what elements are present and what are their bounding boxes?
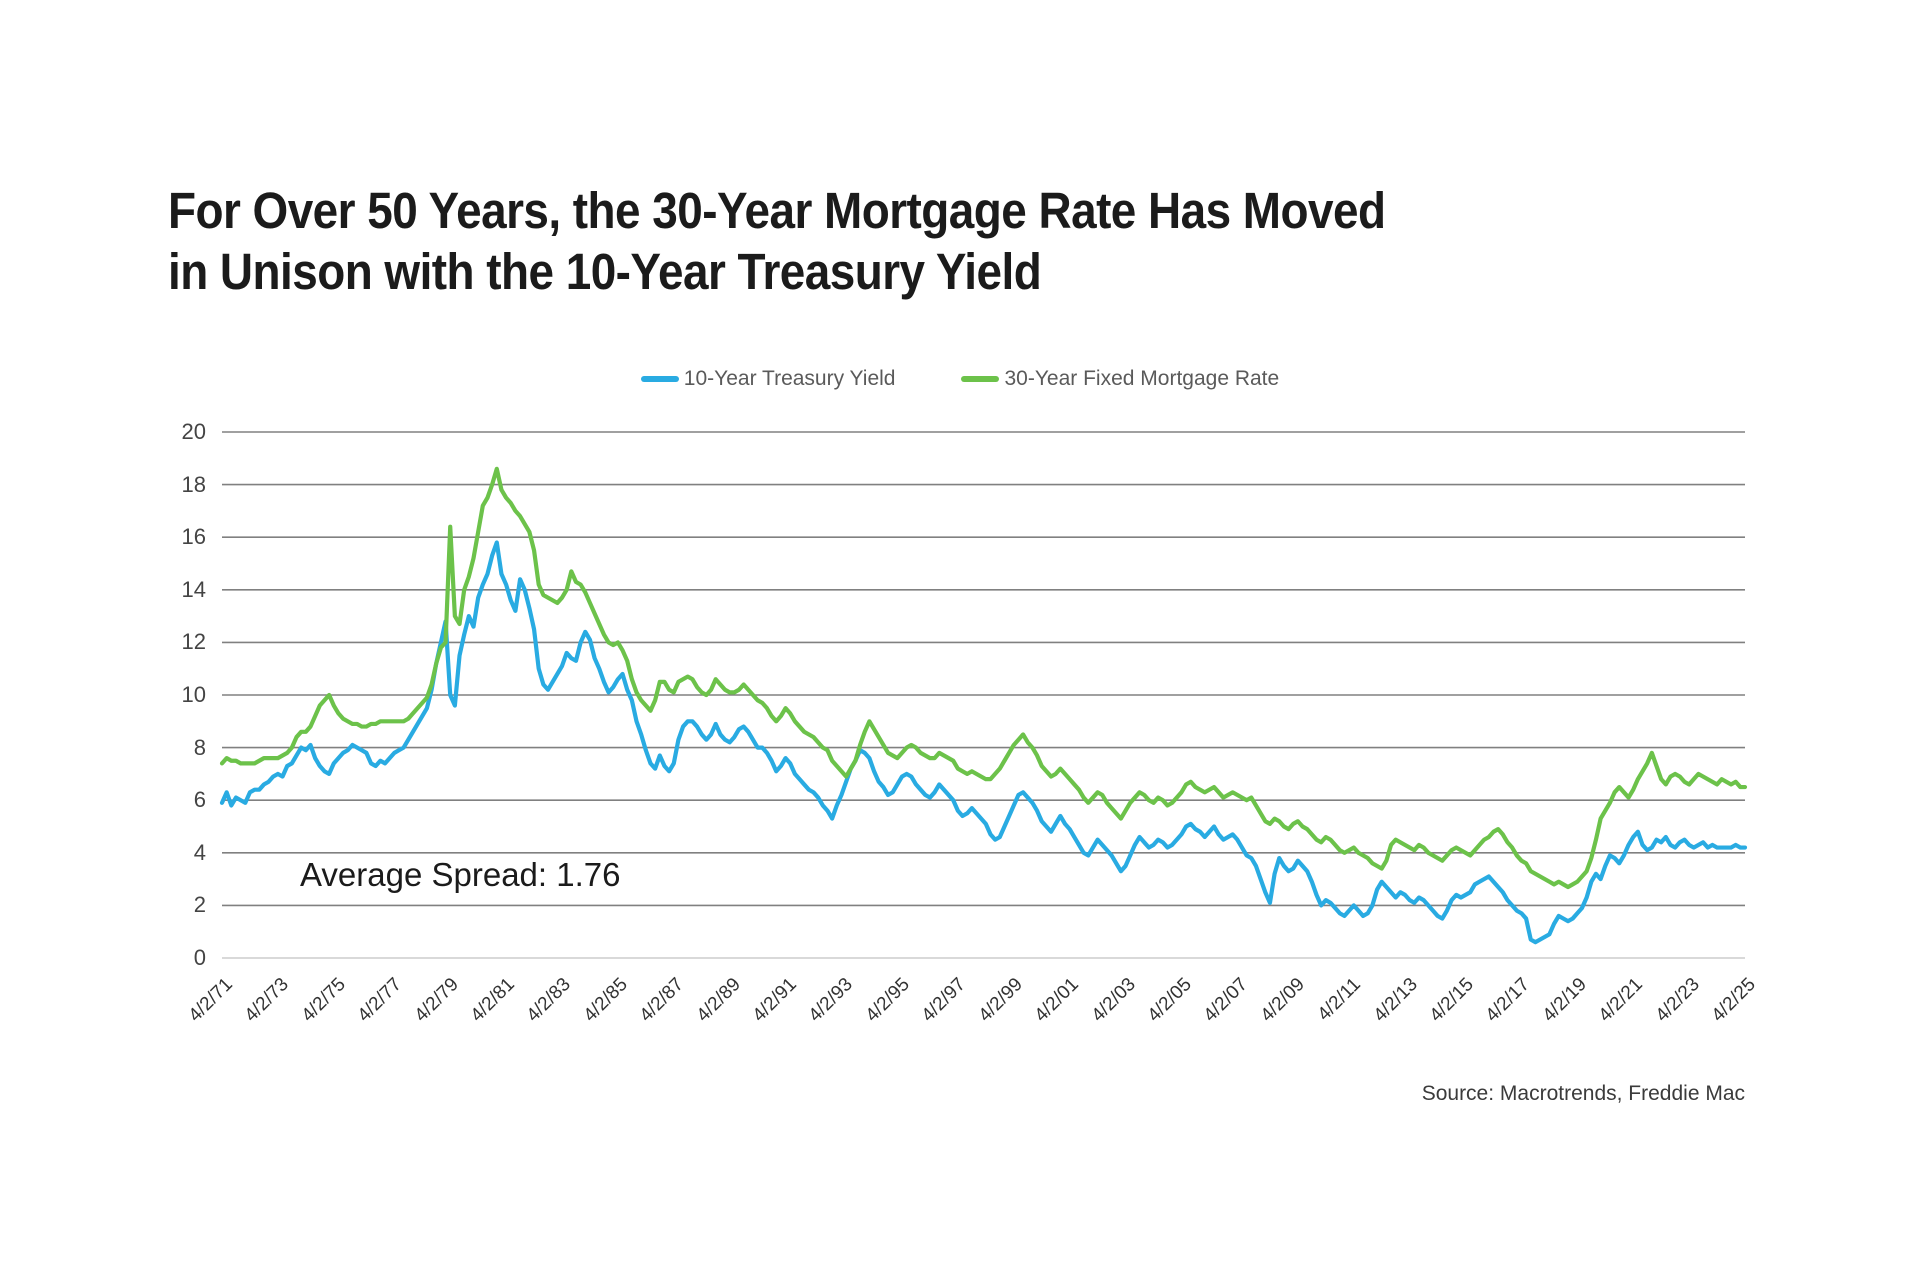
legend-swatch-icon [961, 376, 999, 382]
title-line-1: For Over 50 Years, the 30-Year Mortgage … [168, 180, 1626, 241]
legend-item-treasury[interactable]: 10-Year Treasury Yield [641, 367, 896, 391]
x-axis-tick-label: 4/2/83 [508, 974, 576, 1042]
x-axis-tick-label: 4/2/87 [621, 974, 689, 1042]
x-axis-tick-label: 4/2/85 [565, 974, 633, 1042]
y-axis-tick-label: 0 [144, 947, 206, 969]
x-axis-tick-label: 4/2/23 [1636, 974, 1704, 1042]
x-axis-tick-label: 4/2/21 [1580, 974, 1648, 1042]
x-axis-tick-label: 4/2/99 [959, 974, 1027, 1042]
x-axis-tick-label: 4/2/01 [1016, 974, 1084, 1042]
page-title: For Over 50 Years, the 30-Year Mortgage … [168, 180, 1626, 302]
x-axis-tick-label: 4/2/81 [452, 974, 520, 1042]
x-axis-tick-label: 4/2/71 [170, 974, 238, 1042]
y-axis-tick-label: 2 [144, 894, 206, 916]
y-axis-tick-label: 10 [144, 684, 206, 706]
y-axis-tick-label: 18 [144, 474, 206, 496]
x-axis-tick-label: 4/2/89 [677, 974, 745, 1042]
x-axis-tick-label: 4/2/25 [1693, 974, 1761, 1042]
y-axis-tick-label: 16 [144, 526, 206, 548]
y-axis-tick-label: 8 [144, 737, 206, 759]
x-axis-tick-label: 4/2/91 [734, 974, 802, 1042]
chart-page: For Over 50 Years, the 30-Year Mortgage … [0, 0, 1920, 1280]
source-caption: Source: Macrotrends, Freddie Mac [1422, 1082, 1745, 1106]
legend-item-mortgage[interactable]: 30-Year Fixed Mortgage Rate [961, 367, 1279, 391]
y-axis-tick-label: 20 [144, 421, 206, 443]
x-axis-tick-label: 4/2/75 [282, 974, 350, 1042]
y-axis-tick-label: 12 [144, 631, 206, 653]
x-axis-tick-label: 4/2/03 [1072, 974, 1140, 1042]
x-axis-tick-label: 4/2/95 [847, 974, 915, 1042]
legend-label: 10-Year Treasury Yield [684, 367, 896, 391]
x-axis-tick-label: 4/2/11 [1298, 974, 1366, 1042]
y-axis-tick-label: 14 [144, 579, 206, 601]
title-line-2: in Unison with the 10-Year Treasury Yiel… [168, 241, 1626, 302]
y-axis-tick-label: 6 [144, 789, 206, 811]
average-spread-annotation: Average Spread: 1.76 [300, 856, 620, 894]
chart-legend: 10-Year Treasury Yield30-Year Fixed Mort… [0, 367, 1920, 391]
x-axis-tick-label: 4/2/79 [395, 974, 463, 1042]
x-axis-tick-label: 4/2/15 [1411, 974, 1479, 1042]
y-axis-tick-label: 4 [144, 842, 206, 864]
x-axis-tick-label: 4/2/17 [1467, 974, 1535, 1042]
x-axis-tick-label: 4/2/73 [226, 974, 294, 1042]
x-axis-tick-label: 4/2/09 [1241, 974, 1309, 1042]
x-axis-tick-label: 4/2/13 [1354, 974, 1422, 1042]
x-axis-tick-label: 4/2/19 [1523, 974, 1591, 1042]
x-axis-tick-label: 4/2/93 [790, 974, 858, 1042]
x-axis-tick-label: 4/2/77 [339, 974, 407, 1042]
x-axis-tick-label: 4/2/05 [1129, 974, 1197, 1042]
x-axis-tick-label: 4/2/97 [903, 974, 971, 1042]
legend-label: 30-Year Fixed Mortgage Rate [1004, 367, 1279, 391]
x-axis-tick-label: 4/2/07 [1185, 974, 1253, 1042]
legend-swatch-icon [641, 376, 679, 382]
